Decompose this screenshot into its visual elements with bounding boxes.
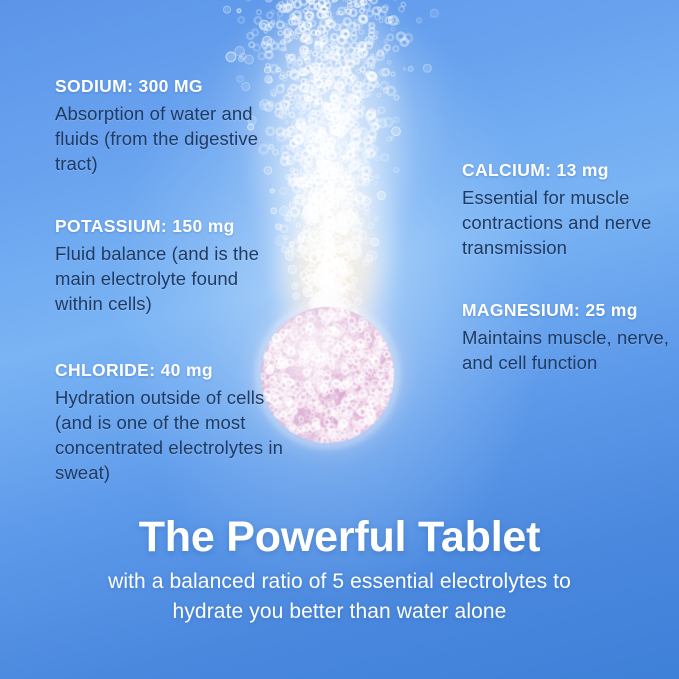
fact-potassium: POTASSIUM: 150 mg Fluid balance (and is … [55,214,270,316]
fact-sodium: SODIUM: 300 MG Absorption of water and f… [55,74,270,176]
fact-sodium-description: Absorption of water and fluids (from the… [55,101,270,176]
fact-potassium-title: POTASSIUM: 150 mg [55,214,270,239]
footer-headline: The Powerful Tablet [0,513,679,562]
fact-chloride-description: Hydration outside of cells (and is one o… [55,385,285,485]
fact-magnesium-title: MAGNESIUM: 25 mg [462,298,677,323]
fact-sodium-title: SODIUM: 300 MG [55,74,270,99]
fact-magnesium-description: Maintains muscle, nerve, and cell functi… [462,325,677,375]
fact-calcium-title: CALCIUM: 13 mg [462,158,677,183]
footer-subheadline-line1: with a balanced ratio of 5 essential ele… [0,567,679,597]
fact-chloride: CHLORIDE: 40 mg Hydration outside of cel… [55,358,285,485]
product-infographic: SODIUM: 300 MG Absorption of water and f… [0,0,679,679]
fact-potassium-description: Fluid balance (and is the main electroly… [55,241,270,316]
fact-magnesium: MAGNESIUM: 25 mg Maintains muscle, nerve… [462,298,677,375]
footer-subheadline: with a balanced ratio of 5 essential ele… [0,567,679,627]
footer-subheadline-line2: hydrate you better than water alone [0,597,679,627]
fact-chloride-title: CHLORIDE: 40 mg [55,358,285,383]
fact-calcium: CALCIUM: 13 mg Essential for muscle cont… [462,158,677,260]
fact-calcium-description: Essential for muscle contractions and ne… [462,185,677,260]
